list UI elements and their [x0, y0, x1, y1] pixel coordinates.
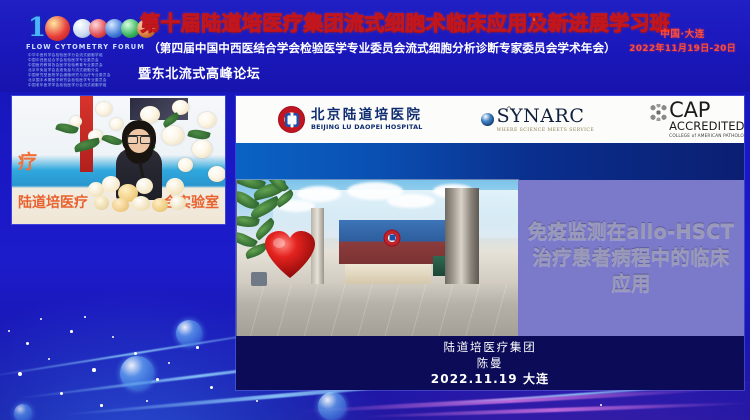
logo-cap-accredited: CAP ACCREDITED COLLEGE of AMERICAN PATHO…: [650, 96, 744, 143]
event-date: 2022年11月19日-20日: [629, 42, 736, 57]
podium-bouquet: [86, 174, 190, 212]
cap-word-top: CAP: [669, 101, 744, 120]
photo-floor: [237, 284, 518, 336]
synarc-tagline: WHERE SCIENCE MEETS SERVICE: [497, 128, 595, 133]
backdrop-big-text: 疗: [18, 152, 37, 172]
forum-org-line-6: 中国老年医学学会检验医学分会流式细胞学组: [28, 83, 107, 87]
forum-ball-icon-0: [45, 16, 70, 41]
forum-org-line-0: 中华中医药学会检验医学分会流式细胞学组: [28, 53, 103, 57]
event-title-sub: （第四届中国中西医结合学会检验医学专业委员会流式细胞分析诊断专家委员会学术年会）: [136, 40, 628, 56]
forum-org-line-2: 中国医药教育协会医学检验教育专业委员会: [28, 63, 103, 67]
slide-title-block: 免疫监测在allo-HSCT治疗患者病程中的临床应用: [518, 180, 744, 336]
globe-icon: [481, 113, 494, 126]
event-location: 中国·大连: [629, 27, 736, 42]
glasses-icon: [127, 135, 151, 141]
cap-word-bottom: ACCREDITED: [669, 120, 744, 133]
synarc-caret-icon: ^: [506, 105, 513, 114]
presenter-name: 陈曼: [236, 355, 744, 371]
forum-org-line-1: 中国中西医结合学会检验医学专业委员会: [28, 58, 99, 62]
slide-logo-bar: 北京陆道培医院 BEIJING LU DAOPEI HOSPITAL ^ SYN…: [236, 96, 744, 143]
photo-reception-wall: [339, 220, 445, 264]
forum-english-name: FLOW CYTOMETRY FORUM: [26, 43, 154, 51]
forum-org-line-3: 北京市免疫学会血液免疫与流式细胞分会: [28, 68, 99, 72]
forum-org-line-5: 北京围手术期医学研究会检验医学专业委员会: [28, 78, 107, 82]
slide-blue-band: [236, 143, 744, 180]
logo-synarc: ^ SYNARC WHERE SCIENCE MEETS SERVICE: [481, 96, 595, 143]
photo-reception-desk: [345, 264, 431, 284]
cap-tagline: COLLEGE of AMERICAN PATHOLOGISTS: [669, 134, 744, 139]
slide-title-text: 免疫监测在allo-HSCT治疗患者病程中的临床应用: [524, 219, 738, 297]
cap-molecule-icon: [650, 104, 667, 121]
backdrop-left-text: 陆道培医疗: [18, 192, 88, 212]
red-heart-sculpture-icon: [264, 230, 316, 280]
slide-footer: 陆道培医疗集团 陈曼 2022.11.19 大连: [236, 336, 744, 390]
forum-logo-balls: 10: [26, 14, 154, 44]
speaker-video-panel[interactable]: 疗 陆道培医疗 合实验室: [12, 96, 225, 224]
hospital-lobby-photo: [237, 180, 518, 336]
presentation-date-location: 2022.11.19 大连: [236, 371, 744, 388]
forum-org-line-4: 中国研究型医院学会细胞研究与治疗专业委员会: [28, 73, 111, 77]
event-meta: 中国·大连 2022年11月19日-20日: [629, 27, 736, 57]
event-banner: 10 FLOW CYTOMETRY FORUM 中华中医药学会检验医学分会流式细…: [0, 0, 750, 92]
presenter-organization: 陆道培医疗集团: [236, 339, 744, 355]
event-title-third: 暨东北流式高峰论坛: [138, 63, 260, 82]
flow-cytometry-forum-logo: 10 FLOW CYTOMETRY FORUM 中华中医药学会检验医学分会流式细…: [26, 8, 154, 88]
presentation-stage: 10 FLOW CYTOMETRY FORUM 中华中医药学会检验医学分会流式细…: [0, 0, 750, 420]
presentation-slide[interactable]: 北京陆道培医院 BEIJING LU DAOPEI HOSPITAL ^ SYN…: [236, 96, 744, 390]
hospital-cross-emblem-icon: [278, 106, 305, 133]
logo-beijing-lu-daopei-hospital: 北京陆道培医院 BEIJING LU DAOPEI HOSPITAL: [278, 96, 423, 143]
hospital-name-english: BEIJING LU DAOPEI HOSPITAL: [311, 123, 423, 131]
event-title-main: 第十届陆道培医疗集团流式细胞术临床应用及新进展学习班: [140, 11, 620, 35]
wall-hospital-emblem-icon: [384, 229, 401, 246]
hospital-name-chinese: 北京陆道培医院: [311, 108, 423, 123]
